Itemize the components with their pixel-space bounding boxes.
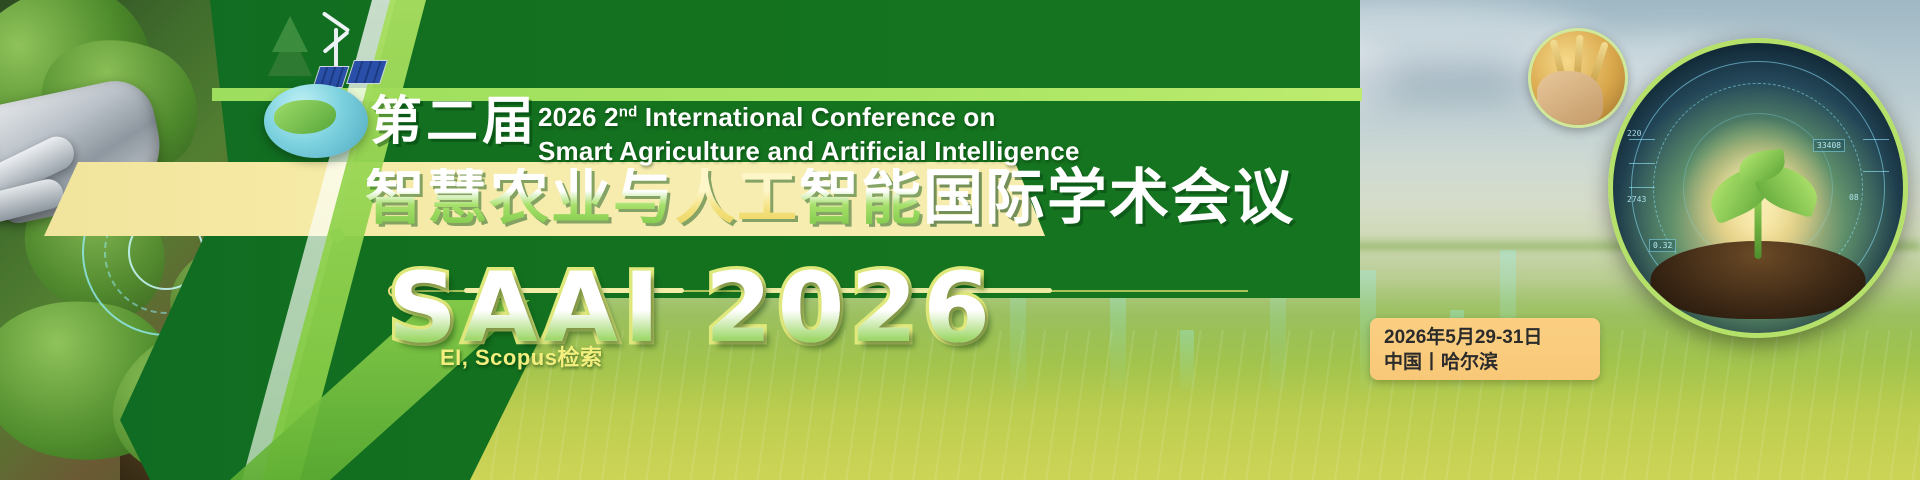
edition-label: 第二届 [370, 96, 538, 148]
chinese-title-part-4: 智能 [799, 168, 923, 228]
hud-readout: 0.32 [1649, 239, 1676, 252]
chinese-title: 智慧农业与人工智能国际学术会议 [365, 168, 1295, 228]
chinese-title-part-2: 与 [613, 168, 675, 228]
english-title-prefix: 2026 2 [538, 102, 619, 132]
sapling-technology-circle: 220 2743 08 33408 0.32 [1608, 38, 1908, 338]
hud-value-label: 08 [1849, 193, 1859, 202]
solar-panel-icon [346, 60, 388, 84]
wheat-harvest-circle [1528, 28, 1628, 128]
english-title-rest: International Conference on [637, 102, 995, 132]
hud-value-label: 2743 [1627, 195, 1646, 204]
hud-value-label: 220 [1627, 129, 1641, 138]
tree-icon [272, 16, 308, 52]
chinese-title-part-5: 国际学术会议 [923, 168, 1295, 228]
hand-icon [1537, 71, 1603, 125]
hud-readout: 33408 [1813, 139, 1845, 152]
conference-banner: 15% 336 2868 3743 078 第二届 2026 2nd Inter… [0, 0, 1920, 480]
conference-location: 中国丨哈尔滨 [1384, 350, 1586, 375]
chinese-title-part-3: 人工 [675, 168, 799, 228]
conference-date: 2026年5月29-31日 [1384, 325, 1586, 350]
ordinal-suffix: nd [619, 103, 638, 120]
english-title-block: 2026 2nd International Conference on Sma… [538, 100, 1258, 169]
english-title-line-1: 2026 2nd International Conference on [538, 100, 1258, 134]
indexing-note: EI, Scopus检索 [440, 340, 602, 372]
chinese-title-part-1: 智慧农业 [365, 168, 613, 228]
date-location-box: 2026年5月29-31日 中国丨哈尔滨 [1370, 318, 1600, 380]
dot-decoration [330, 228, 344, 242]
